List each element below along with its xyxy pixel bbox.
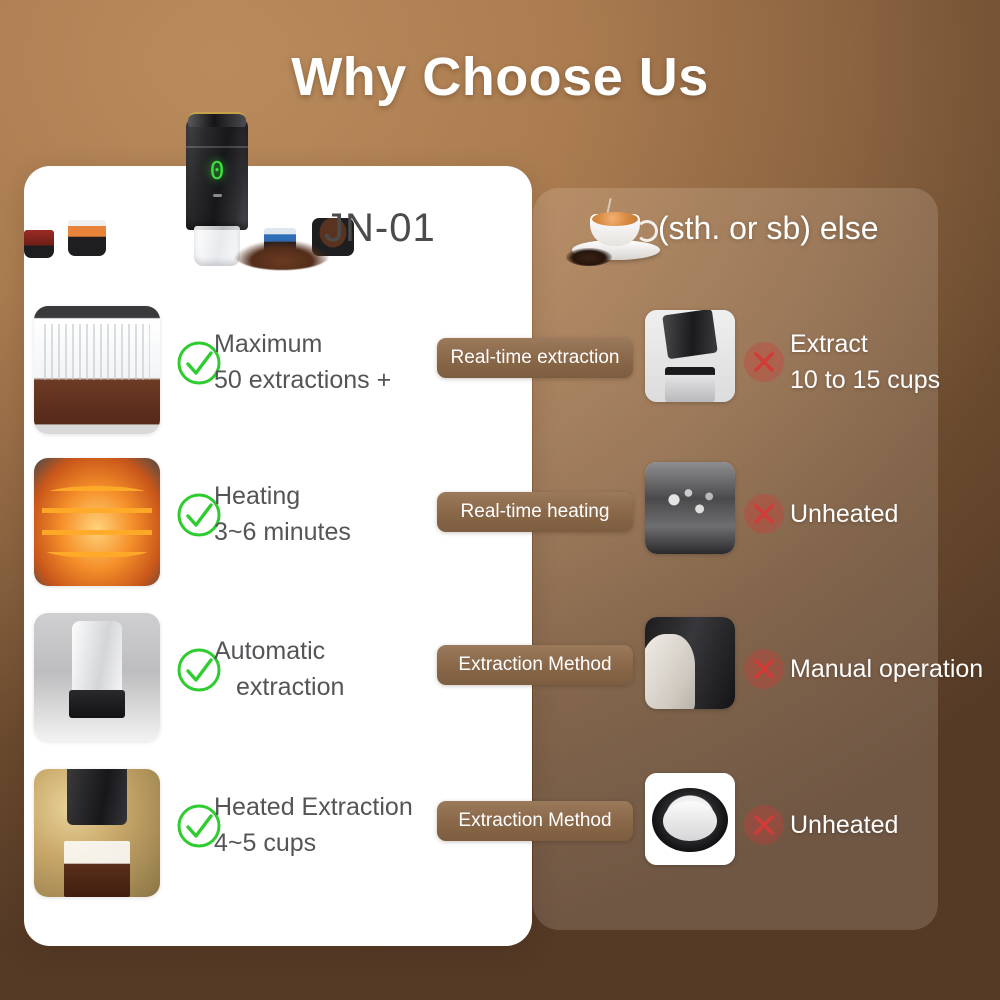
comparison-row: Heated Extraction 4~5 cups Extraction Me… bbox=[0, 763, 1000, 913]
product-thumb-2 bbox=[34, 458, 160, 586]
comparison-row: Maximum 50 extractions + Real-time extra… bbox=[0, 300, 1000, 450]
machine-seam bbox=[186, 146, 248, 148]
feature-line-2: 3~6 minutes bbox=[214, 514, 351, 550]
competitor-thumb-4 bbox=[645, 773, 735, 865]
competitor-feature-2: Unheated bbox=[790, 496, 898, 532]
comparison-row: Automatic extraction Extraction Method M… bbox=[0, 607, 1000, 757]
feature-line-2: 10 to 15 cups bbox=[790, 362, 940, 398]
feature-line-2: 4~5 cups bbox=[214, 825, 413, 861]
feature-line-1: Maximum bbox=[214, 326, 391, 362]
coffee-beans bbox=[566, 248, 612, 266]
competitor-feature-3: Manual operation bbox=[790, 651, 983, 687]
product-thumb-4 bbox=[34, 769, 160, 897]
competitor-feature-4: Unheated bbox=[790, 807, 898, 843]
machine-top-ring bbox=[188, 112, 246, 127]
feature-line-1: Heating bbox=[214, 478, 351, 514]
competitor-thumb-3 bbox=[645, 617, 735, 709]
feature-badge-4: Extraction Method bbox=[437, 801, 633, 841]
coffee-cup-icon bbox=[566, 204, 664, 266]
product-thumb-1 bbox=[34, 306, 160, 434]
feature-line-1: Manual operation bbox=[790, 651, 983, 687]
competitor-feature-1: Extract 10 to 15 cups bbox=[790, 326, 940, 398]
feature-line-1: Heated Extraction bbox=[214, 789, 413, 825]
cross-circle-icon bbox=[744, 805, 784, 845]
competitor-header: (sth. or sb) else bbox=[548, 196, 968, 276]
cross-circle-icon bbox=[744, 649, 784, 689]
product-feature-4: Heated Extraction 4~5 cups bbox=[214, 789, 413, 861]
cross-circle-icon bbox=[744, 342, 784, 382]
feature-badge-1: Real-time extraction bbox=[437, 338, 633, 378]
competitor-thumb-1 bbox=[645, 310, 735, 402]
page-title: Why Choose Us bbox=[0, 46, 1000, 108]
promo-comparison-page: Why Choose Us 0 JN-01 (sth. or sb) else bbox=[0, 0, 1000, 1000]
feature-line-1: Unheated bbox=[790, 496, 898, 532]
competitor-thumb-2 bbox=[645, 462, 735, 554]
feature-line-1: Extract bbox=[790, 326, 940, 362]
cross-circle-icon bbox=[744, 494, 784, 534]
feature-badge-3: Extraction Method bbox=[437, 645, 633, 685]
cup-handle bbox=[636, 220, 658, 242]
product-feature-2: Heating 3~6 minutes bbox=[214, 478, 351, 550]
product-feature-1: Maximum 50 extractions + bbox=[214, 326, 391, 398]
product-feature-3: Automatic extraction bbox=[214, 633, 344, 705]
latte-art bbox=[592, 212, 638, 226]
product-thumb-3 bbox=[34, 613, 160, 741]
feature-badge-2: Real-time heating bbox=[437, 492, 633, 532]
feature-line-2: 50 extractions + bbox=[214, 362, 391, 398]
feature-line-1: Unheated bbox=[790, 807, 898, 843]
feature-line-2: extraction bbox=[214, 669, 344, 705]
competitor-header-label: (sth. or sb) else bbox=[658, 210, 879, 247]
comparison-row: Heating 3~6 minutes Real-time heating Un… bbox=[0, 452, 1000, 602]
feature-line-1: Automatic bbox=[214, 633, 344, 669]
